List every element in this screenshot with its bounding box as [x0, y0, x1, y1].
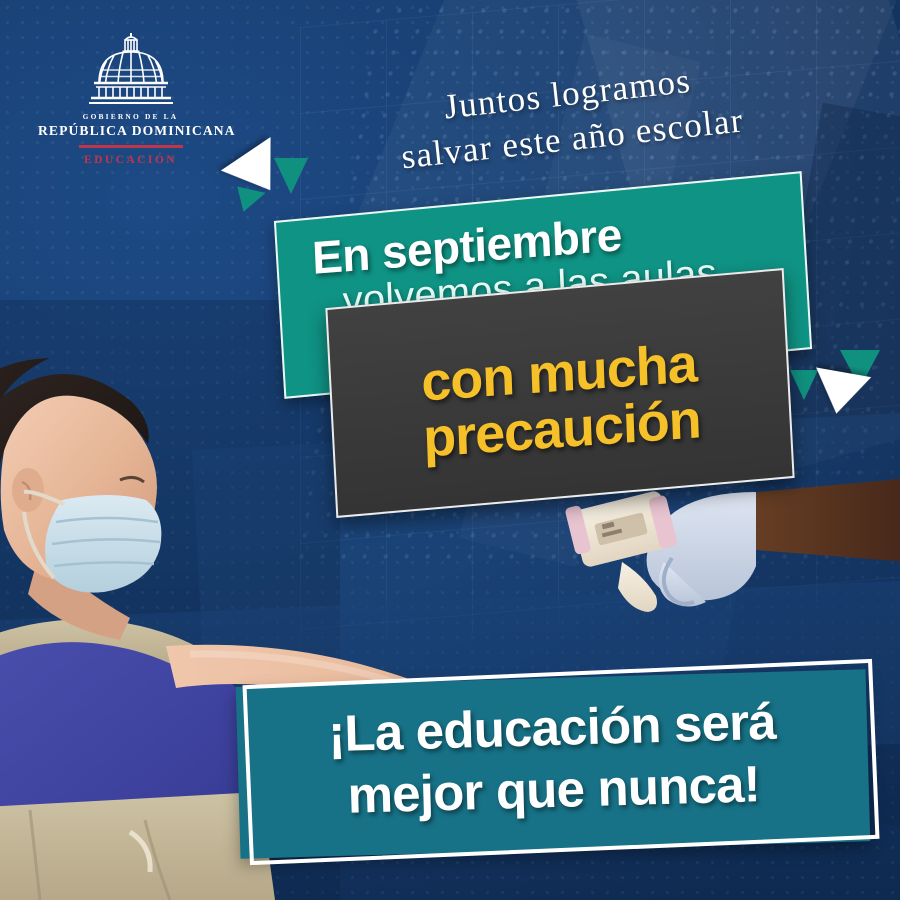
government-logo: GOBIERNO DE LA REPÚBLICA DOMINICANA EDUC…: [38, 30, 223, 166]
logo-line-gobierno: GOBIERNO DE LA: [38, 112, 223, 121]
dome-emblem-icon: [38, 30, 223, 108]
bottom-banner-frame: [243, 659, 880, 865]
logo-line-educacion: EDUCACIÓN: [38, 153, 223, 166]
thermometer-photo: [560, 470, 900, 660]
poster-canvas: GOBIERNO DE LA REPÚBLICA DOMINICANA EDUC…: [0, 0, 900, 900]
dark-banner: con mucha precaución: [325, 268, 794, 518]
logo-line-republica: REPÚBLICA DOMINICANA: [38, 123, 223, 139]
logo-divider: [79, 145, 183, 148]
